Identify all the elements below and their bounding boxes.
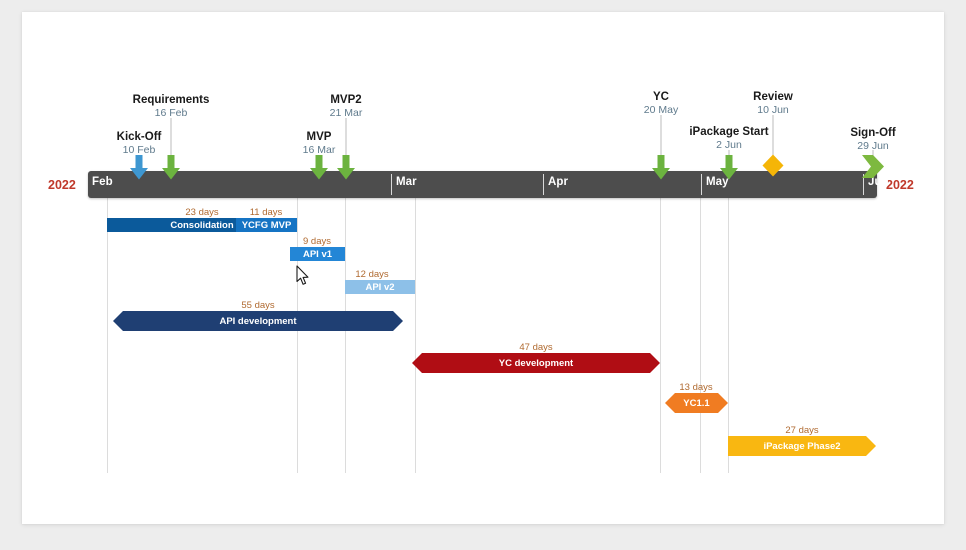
- gridline: [660, 198, 661, 473]
- task-label-ipackage-phase2: iPackage Phase2: [763, 441, 840, 452]
- task-bar-ycfg-mvp[interactable]: YCFG MVP: [236, 218, 297, 232]
- task-label-api-development: API development: [219, 316, 296, 327]
- timeline-chart: 2022 2022 FebMarAprMayJun Kick-Off10 Feb…: [0, 0, 966, 550]
- gridline: [107, 198, 108, 473]
- axis-month-feb: Feb: [92, 176, 113, 188]
- milestone-title-yc: YC: [653, 91, 669, 103]
- milestone-title-mvp: MVP: [307, 131, 332, 143]
- task-label-yc1-1: YC1.1: [683, 398, 709, 409]
- milestone-title-sign-off: Sign-Off: [850, 127, 895, 139]
- milestone-title-review: Review: [753, 91, 793, 103]
- gridline: [700, 198, 701, 473]
- milestone-marker-requirements-icon[interactable]: [162, 155, 181, 185]
- task-duration-ycfg-mvp: 11 days: [250, 207, 283, 218]
- milestone-marker-kick-off-icon[interactable]: [130, 155, 149, 185]
- task-bar-ipackage-phase2[interactable]: iPackage Phase2: [728, 436, 876, 456]
- axis-month-separator: [391, 174, 392, 195]
- milestone-title-requirements: Requirements: [133, 94, 210, 106]
- milestone-stem-yc: [661, 115, 662, 156]
- task-label-api-v1: API v1: [303, 249, 332, 260]
- task-label-yc-development: YC development: [499, 358, 573, 369]
- task-label-ycfg-mvp: YCFG MVP: [242, 220, 292, 231]
- milestone-marker-review-icon[interactable]: [762, 154, 784, 182]
- task-label-api-v2: API v2: [365, 282, 394, 293]
- year-label-left: 2022: [48, 178, 76, 192]
- gridline: [728, 198, 729, 473]
- milestone-marker-yc-icon[interactable]: [652, 155, 671, 185]
- milestone-title-ipackage-start: iPackage Start: [689, 126, 768, 138]
- task-bar-api-v2[interactable]: API v2: [345, 280, 415, 294]
- task-duration-ipackage-phase2: 27 days: [785, 425, 818, 436]
- task-bar-yc-development[interactable]: YC development: [412, 353, 660, 373]
- task-label-consolidation: Consolidation: [170, 220, 233, 231]
- gridline: [297, 198, 298, 473]
- task-duration-api-development: 55 days: [241, 300, 274, 311]
- task-duration-consolidation: 23 days: [185, 207, 218, 218]
- timeline-axis: FebMarAprMayJun: [88, 171, 877, 198]
- milestone-marker-sign-off-icon[interactable]: [861, 154, 885, 184]
- task-duration-yc-development: 47 days: [519, 342, 552, 353]
- milestone-stem-mvp2: [346, 118, 347, 156]
- milestone-title-kick-off: Kick-Off: [117, 131, 162, 143]
- milestone-marker-ipackage-start-icon[interactable]: [720, 155, 739, 185]
- axis-month-apr: Apr: [548, 176, 568, 188]
- gridline: [345, 198, 346, 473]
- task-bar-api-development[interactable]: API development: [113, 311, 403, 331]
- task-duration-api-v1: 9 days: [303, 236, 331, 247]
- task-duration-yc1-1: 13 days: [679, 382, 712, 393]
- milestone-stem-requirements: [171, 118, 172, 156]
- task-bar-api-v1[interactable]: API v1: [290, 247, 345, 261]
- milestone-stem-review: [773, 115, 774, 156]
- year-label-right: 2022: [886, 178, 914, 192]
- milestone-marker-mvp-icon[interactable]: [310, 155, 329, 185]
- axis-month-mar: Mar: [396, 176, 417, 188]
- task-bar-yc1-1[interactable]: YC1.1: [665, 393, 728, 413]
- app-root: 2022 2022 FebMarAprMayJun Kick-Off10 Feb…: [0, 0, 966, 550]
- axis-month-separator: [543, 174, 544, 195]
- task-duration-api-v2: 12 days: [355, 269, 388, 280]
- milestone-marker-mvp2-icon[interactable]: [337, 155, 356, 185]
- mouse-cursor: [296, 265, 312, 287]
- gridline: [415, 198, 416, 473]
- milestone-title-mvp2: MVP2: [330, 94, 361, 106]
- axis-month-separator: [701, 174, 702, 195]
